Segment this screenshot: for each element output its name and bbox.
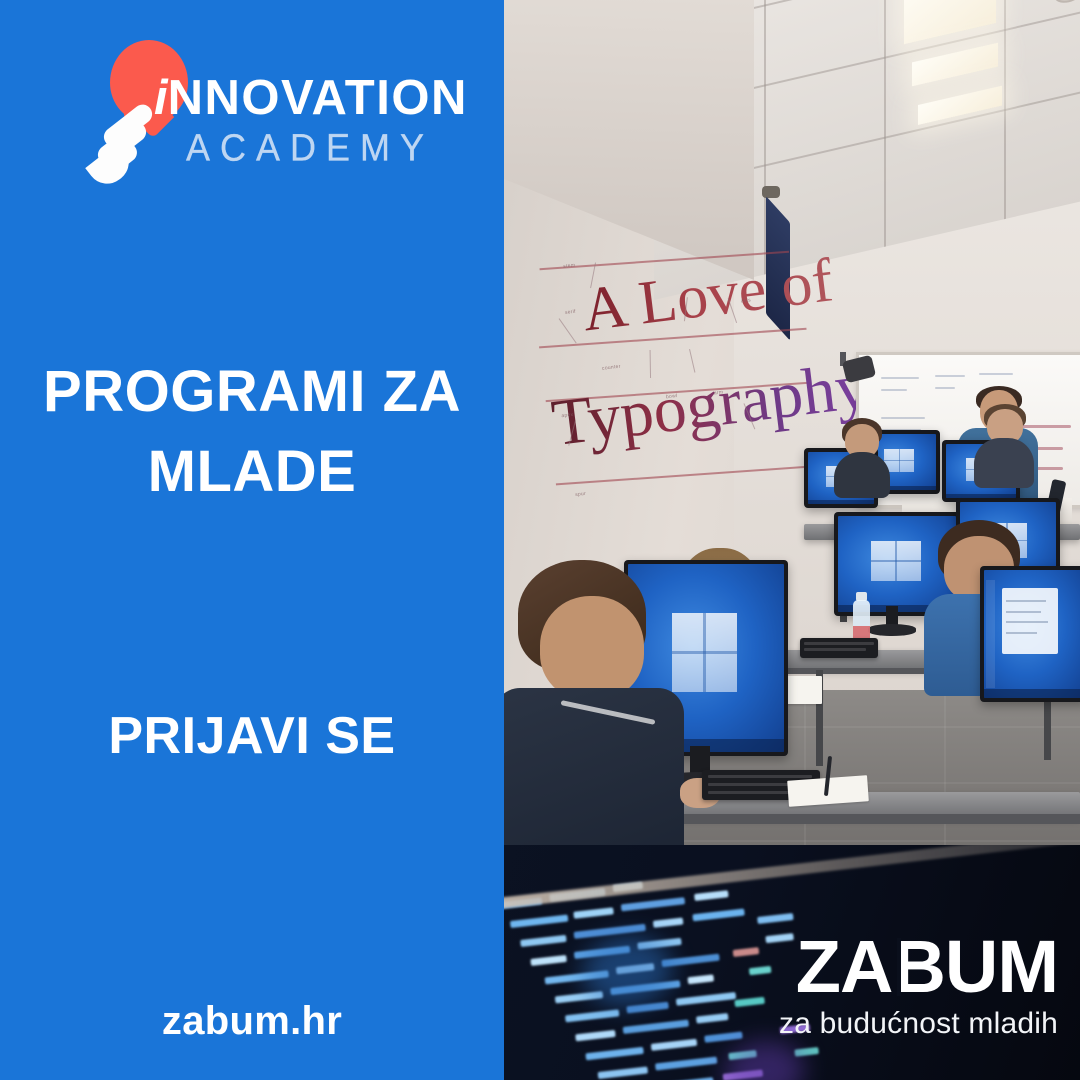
student [974, 404, 1034, 482]
monitor-foot [868, 624, 916, 636]
brand-name: iNNOVATION [154, 74, 468, 123]
zabum-logo: ZABUM za budućnost mladih [738, 933, 1058, 1041]
wall-typography-art: A Love of Typography stem serif counter … [529, 234, 839, 526]
classroom-photo: A Love of Typography stem serif counter … [504, 0, 1080, 1080]
brand-name-initial: i [154, 71, 168, 125]
wall-art-line-1: A Love of [579, 245, 837, 346]
student-foreground [504, 560, 684, 860]
code-screen-band: ZABUM za budućnost mladih [504, 845, 1080, 1080]
wall-art-line-2: Typography [548, 348, 873, 462]
brand-name-rest: NNOVATION [168, 71, 468, 125]
blind-bracket [762, 186, 780, 198]
monitor [980, 566, 1080, 702]
poster-canvas: iNNOVATION ACADEMY PROGRAMI ZA MLADE PRI… [0, 0, 1080, 1080]
zabum-word-za: ZA [796, 925, 893, 1008]
website-url[interactable]: zabum.hr [0, 999, 504, 1044]
desk-edge [654, 814, 1080, 824]
left-blue-panel: iNNOVATION ACADEMY PROGRAMI ZA MLADE PRI… [0, 0, 504, 1080]
student [834, 418, 890, 490]
keyboard [800, 638, 878, 658]
zabum-word-um: UM [945, 925, 1058, 1008]
zabum-tagline: za budućnost mladih [738, 1007, 1058, 1041]
page-headline: PROGRAMI ZA MLADE [0, 352, 504, 512]
innovation-academy-logo: iNNOVATION ACADEMY [78, 38, 448, 178]
zabum-word-b: B [892, 933, 944, 1001]
apply-cta[interactable]: PRIJAVI SE [0, 706, 504, 766]
brand-subtitle: ACADEMY [186, 129, 434, 167]
